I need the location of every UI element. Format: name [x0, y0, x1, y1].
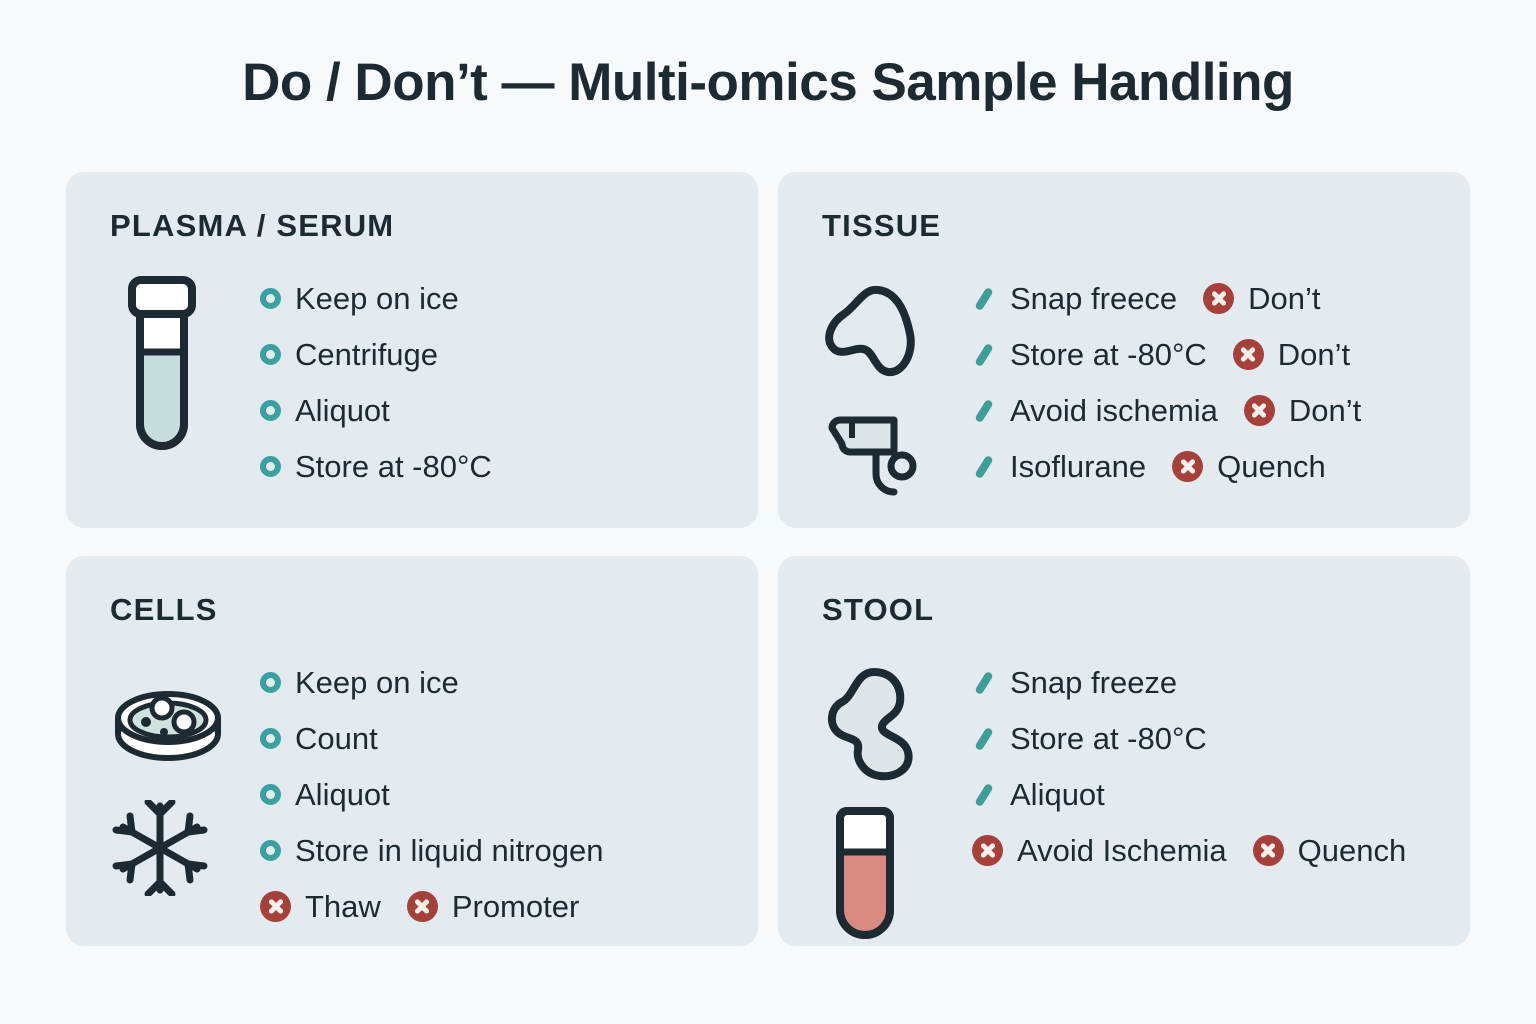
tissue-blob-icon	[822, 282, 930, 382]
item-label: Thaw	[305, 891, 381, 922]
item-label: Aliquot	[295, 779, 390, 810]
item-label: Snap freeze	[1010, 667, 1177, 698]
test-tube-icon	[110, 274, 214, 470]
do-ring-icon	[260, 288, 281, 309]
list-item: Keep on ice	[260, 654, 740, 710]
do-slash-icon	[972, 286, 996, 310]
do-item: Aliquot	[972, 779, 1105, 810]
item-label: Promoter	[452, 891, 579, 922]
list-item: Keep on ice	[260, 270, 740, 326]
do-slash-icon	[972, 726, 996, 750]
do-ring-icon	[260, 456, 281, 477]
list-item: Avoid ischemia Don’t	[972, 382, 1452, 438]
list-column: Snap freece Don’t Store at -80°C	[972, 268, 1452, 518]
item-label: Don’t	[1248, 283, 1320, 314]
do-slash-icon	[972, 782, 996, 806]
card-title: CELLS	[110, 594, 758, 625]
item-label: Store at -80°C	[1010, 723, 1207, 754]
do-ring-icon	[260, 728, 281, 749]
item-label: Quench	[1298, 835, 1407, 866]
dont-x-icon	[1253, 835, 1284, 866]
do-ring-icon	[260, 344, 281, 365]
infographic-page: Do / Don’t — Multi-omics Sample Handling…	[0, 0, 1536, 1024]
do-item: Snap freece	[972, 283, 1177, 314]
do-ring-icon	[260, 400, 281, 421]
do-item: Count	[260, 723, 378, 754]
list-item: Snap freece Don’t	[972, 270, 1452, 326]
list-item: Aliquot	[260, 382, 740, 438]
item-label: Aliquot	[1010, 779, 1105, 810]
snowflake-icon	[110, 800, 210, 896]
list-item: Store at -80°C	[972, 710, 1452, 766]
dont-x-icon	[1172, 451, 1203, 482]
forceps-icon	[822, 412, 926, 504]
card-tissue: TISSUE	[778, 172, 1470, 528]
item-label: Aliquot	[295, 395, 390, 426]
do-item: Snap freeze	[972, 667, 1177, 698]
dont-x-icon	[407, 891, 438, 922]
item-label: Don’t	[1289, 395, 1361, 426]
do-item: Avoid ischemia	[972, 395, 1218, 426]
list-item: Snap freeze	[972, 654, 1452, 710]
item-label: Count	[295, 723, 378, 754]
do-slash-icon	[972, 670, 996, 694]
list-item: Isoflurane Quench	[972, 438, 1452, 494]
do-item: Keep on ice	[260, 667, 459, 698]
dont-item: Don’t	[1203, 283, 1320, 314]
dont-item: Don’t	[1233, 339, 1350, 370]
card-title: STOOL	[822, 594, 1470, 625]
do-ring-icon	[260, 784, 281, 805]
list-column: Snap freeze Store at -80°C Aliquot	[972, 652, 1452, 936]
list-column: Keep on ice Centrifuge Aliquot	[260, 268, 740, 518]
do-ring-icon	[260, 840, 281, 861]
item-label: Avoid Ischemia	[1017, 835, 1227, 866]
do-slash-icon	[972, 398, 996, 422]
icon-column	[822, 652, 972, 936]
dont-item: Promoter	[407, 891, 579, 922]
do-item: Store at -80°C	[972, 339, 1207, 370]
dont-x-icon	[972, 835, 1003, 866]
item-label: Quench	[1217, 451, 1326, 482]
item-label: Snap freece	[1010, 283, 1177, 314]
item-label: Isoflurane	[1010, 451, 1146, 482]
dont-item: Quench	[1172, 451, 1326, 482]
list-item: Count	[260, 710, 740, 766]
list-item: Centrifuge	[260, 326, 740, 382]
card-plasma-serum: PLASMA / SERUM	[66, 172, 758, 528]
dont-x-icon	[1244, 395, 1275, 426]
icon-column	[822, 268, 972, 518]
list-item: Aliquot	[972, 766, 1452, 822]
item-label: Store at -80°C	[1010, 339, 1207, 370]
do-item: Keep on ice	[260, 283, 459, 314]
card-title: PLASMA / SERUM	[110, 210, 758, 241]
card-title: TISSUE	[822, 210, 1470, 241]
item-label: Keep on ice	[295, 667, 459, 698]
item-label: Store at -80°C	[295, 451, 492, 482]
do-item: Aliquot	[260, 779, 390, 810]
do-slash-icon	[972, 454, 996, 478]
item-label: Store in liquid nitrogen	[295, 835, 603, 866]
do-ring-icon	[260, 672, 281, 693]
do-item: Centrifuge	[260, 339, 438, 370]
item-label: Don’t	[1278, 339, 1350, 370]
card-grid: PLASMA / SERUM	[66, 172, 1470, 946]
do-slash-icon	[972, 342, 996, 366]
card-body: Snap freece Don’t Store at -80°C	[822, 268, 1452, 518]
list-column: Keep on ice Count Aliquot	[260, 652, 740, 936]
list-item: Store in liquid nitrogen	[260, 822, 740, 878]
card-body: Snap freeze Store at -80°C Aliquot	[822, 652, 1452, 936]
item-label: Keep on ice	[295, 283, 459, 314]
card-body: Keep on ice Centrifuge Aliquot	[110, 268, 740, 518]
do-item: Store at -80°C	[972, 723, 1207, 754]
petri-dish-icon	[110, 672, 226, 768]
card-stool: STOOL	[778, 556, 1470, 946]
icon-column	[110, 268, 260, 518]
dont-item: Thaw	[260, 891, 381, 922]
dont-item: Don’t	[1244, 395, 1361, 426]
list-item: Store at -80°C Don’t	[972, 326, 1452, 382]
do-item: Isoflurane	[972, 451, 1146, 482]
icon-column	[110, 652, 260, 936]
stool-blob-icon	[822, 664, 926, 784]
dont-item: Avoid Ischemia	[972, 835, 1227, 866]
dont-x-icon	[1233, 339, 1264, 370]
item-label: Avoid ischemia	[1010, 395, 1218, 426]
card-body: Keep on ice Count Aliquot	[110, 652, 740, 936]
item-label: Centrifuge	[295, 339, 438, 370]
list-item: Avoid Ischemia Quench	[972, 822, 1452, 878]
dont-x-icon	[260, 891, 291, 922]
list-item: Aliquot	[260, 766, 740, 822]
page-title: Do / Don’t — Multi-omics Sample Handling	[0, 52, 1536, 113]
sample-tube-icon	[822, 806, 908, 942]
list-item: Thaw Promoter	[260, 878, 740, 934]
do-item: Store at -80°C	[260, 451, 492, 482]
dont-item: Quench	[1253, 835, 1407, 866]
list-item: Store at -80°C	[260, 438, 740, 494]
card-cells: CELLS	[66, 556, 758, 946]
do-item: Aliquot	[260, 395, 390, 426]
do-item: Store in liquid nitrogen	[260, 835, 603, 866]
dont-x-icon	[1203, 283, 1234, 314]
